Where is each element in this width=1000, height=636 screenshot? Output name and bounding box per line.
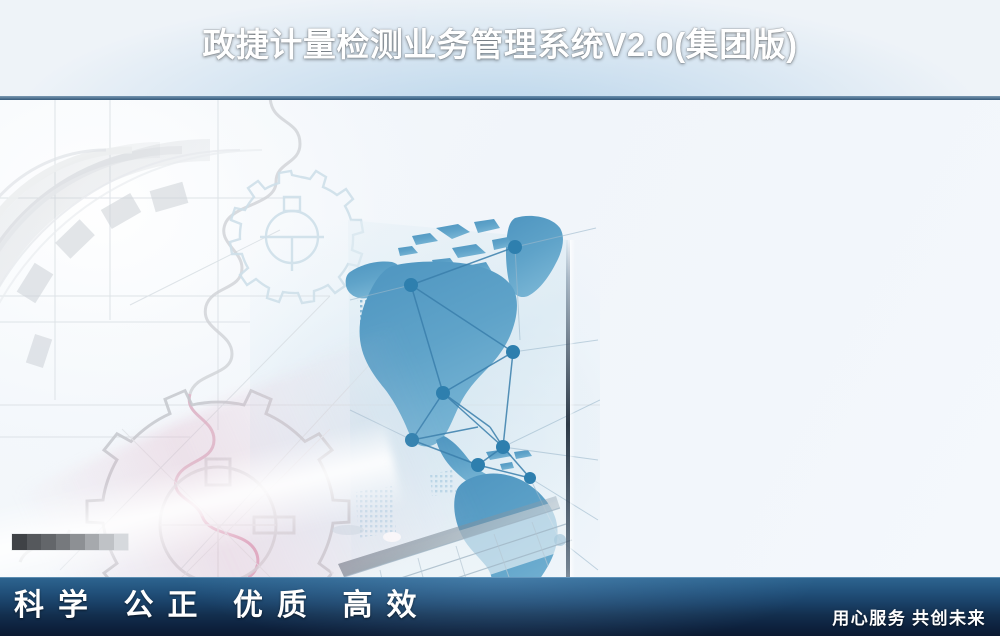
app-footer: 科学 公正 优质 高效 用心服务 共创未来 xyxy=(0,577,1000,636)
splash-screen: 政捷计量检测业务管理系统V2.0(集团版) xyxy=(0,0,1000,636)
gear-outline-small xyxy=(230,171,363,303)
step-wedge-cell xyxy=(41,534,56,550)
step-wedge-cell xyxy=(27,534,42,550)
step-wedge-cell xyxy=(70,534,85,550)
panel-edge xyxy=(566,240,570,577)
footer-tagline: 用心服务 共创未来 xyxy=(832,608,986,630)
technology-splash-artwork xyxy=(0,100,600,577)
step-wedge-cell xyxy=(99,534,114,550)
step-wedge-cell xyxy=(12,534,27,550)
step-wedge-cell xyxy=(56,534,71,550)
app-title: 政捷计量检测业务管理系统V2.0(集团版) xyxy=(0,23,1000,67)
app-header: 政捷计量检测业务管理系统V2.0(集团版) xyxy=(0,0,1000,100)
footer-slogan: 科学 公正 优质 高效 xyxy=(14,589,431,623)
step-wedge-cell xyxy=(114,534,129,550)
grayscale-step-wedge xyxy=(12,534,128,550)
splash-main xyxy=(0,100,1000,577)
step-wedge-cell xyxy=(85,534,100,550)
